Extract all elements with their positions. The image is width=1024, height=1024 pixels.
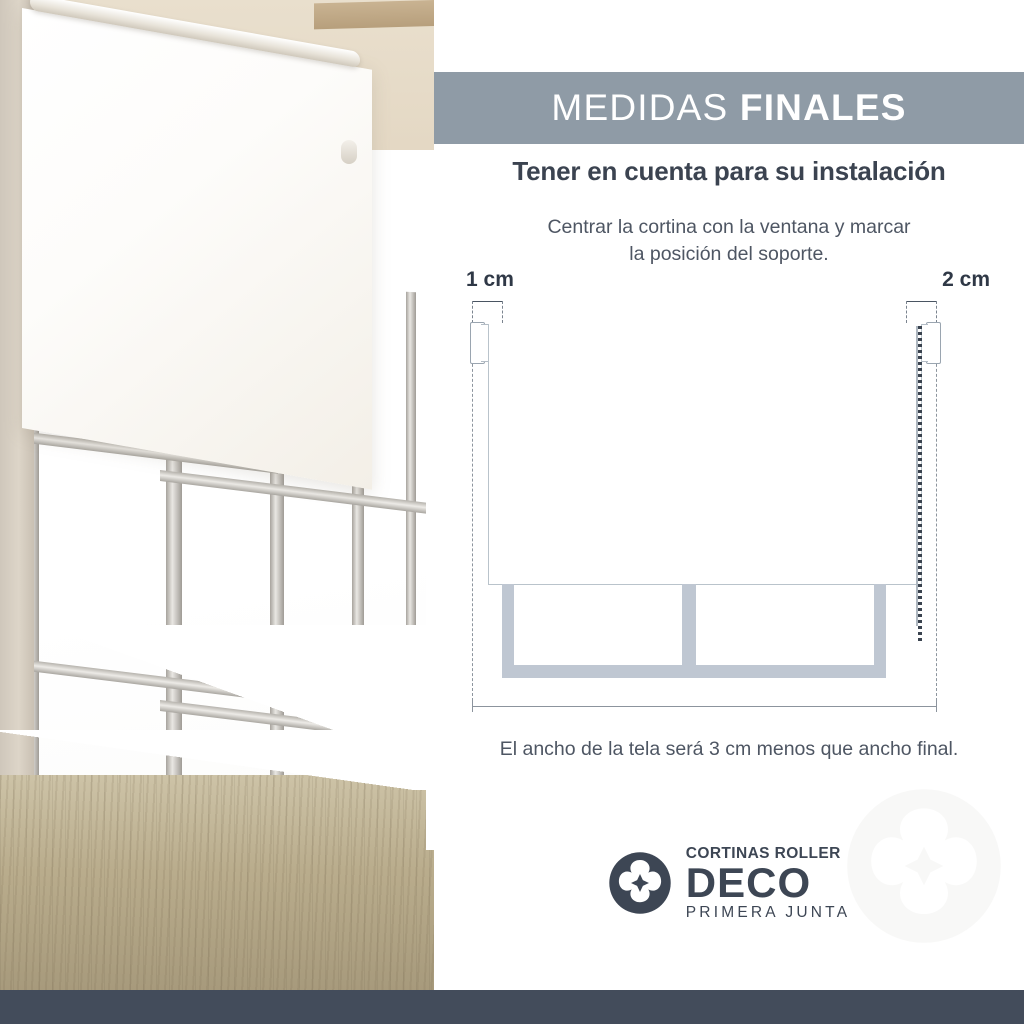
poster-root: MEDIDAS FINALES Tener en cuenta para su … <box>0 0 1024 1024</box>
left-dimension-edge <box>502 301 503 323</box>
logo-wordmark: CORTINAS ROLLER DECO PRIMERA JUNTA <box>686 846 850 921</box>
product-photo <box>0 0 434 990</box>
left-margin-label: 1 cm <box>466 268 514 292</box>
info-panel: MEDIDAS FINALES Tener en cuenta para su … <box>434 0 1024 990</box>
photo-right-edge <box>426 330 434 850</box>
banner-title-thin: MEDIDAS <box>551 87 728 128</box>
total-width-dimension <box>472 706 936 707</box>
instruction-line-1: Centrar la cortina con la ventana y marc… <box>434 214 1024 241</box>
control-chain <box>918 326 922 642</box>
footnote-text: El ancho de la tela será 3 cm menos que … <box>434 738 1024 761</box>
floor-edge-highlight <box>0 730 434 790</box>
right-dimension-edge <box>906 301 907 323</box>
dimension-end-left <box>472 700 473 712</box>
footer-bar <box>0 990 1024 1024</box>
right-dimension-edge <box>936 301 937 323</box>
roller-blind-fabric <box>22 8 372 490</box>
window-frame-bottom-rail <box>502 665 886 678</box>
left-dimension-tick <box>472 301 502 302</box>
right-margin-label: 2 cm <box>942 268 990 292</box>
banner-title: MEDIDAS FINALES <box>551 87 906 129</box>
right-bracket <box>926 322 941 364</box>
brand-logo: CORTINAS ROLLER DECO PRIMERA JUNTA <box>434 838 1024 928</box>
window-frame-center-post <box>682 584 696 674</box>
fabric-panel <box>488 324 922 585</box>
logo-tagline-bottom: PRIMERA JUNTA <box>686 905 850 921</box>
window-frame-right-post <box>874 584 886 674</box>
left-dimension-edge <box>472 301 473 323</box>
right-width-guide <box>936 324 937 706</box>
deco-flower-icon <box>608 851 672 915</box>
header-banner: MEDIDAS FINALES <box>434 72 1024 144</box>
page-subtitle: Tener en cuenta para su instalación <box>434 156 1024 187</box>
roller-blind-endcap <box>341 140 357 164</box>
instruction-text: Centrar la cortina con la ventana y marc… <box>434 214 1024 268</box>
wood-floor <box>0 775 434 990</box>
dimension-end-right <box>936 700 937 712</box>
window-frame-left-post <box>502 584 514 674</box>
installation-diagram: 1 cm 2 cm <box>434 262 1024 732</box>
right-dimension-tick <box>906 301 936 302</box>
window-rail <box>160 470 430 514</box>
banner-title-bold: FINALES <box>740 87 907 128</box>
left-width-guide <box>472 324 473 706</box>
logo-name: DECO <box>686 862 811 904</box>
